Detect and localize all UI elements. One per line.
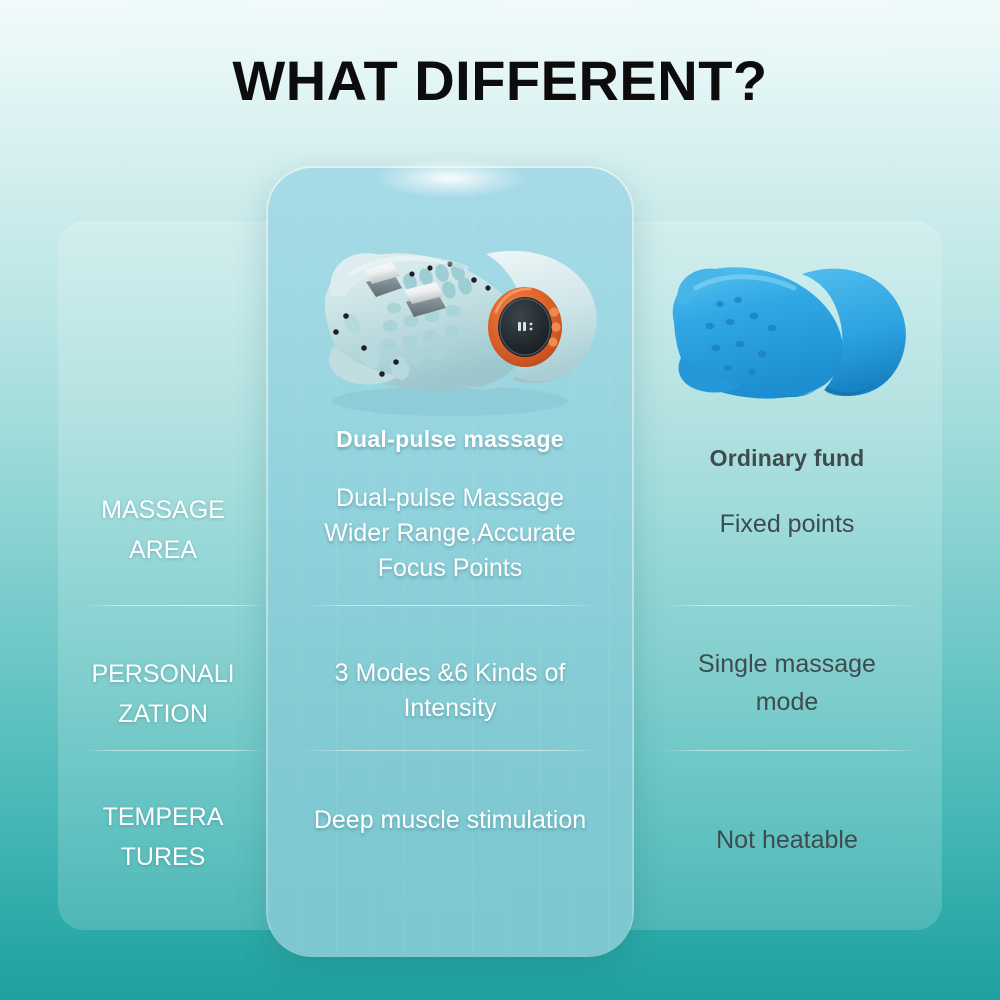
premium-value-personalization: 3 Modes &6 Kinds of Intensity bbox=[268, 656, 632, 726]
premium-value-temperatures: Deep muscle stimulation bbox=[268, 803, 632, 838]
feature-label-line: TURES bbox=[58, 837, 268, 877]
row-divider bbox=[660, 750, 920, 751]
ordinary-value-temperatures: Not heatable bbox=[632, 821, 942, 859]
premium-value-line: 3 Modes &6 Kinds of bbox=[268, 656, 632, 691]
feature-label-column: MASSAGE AREA PERSONALI ZATION TEMPERA TU… bbox=[58, 222, 268, 930]
feature-label-line: ZATION bbox=[58, 694, 268, 734]
ordinary-value-line: Single massage bbox=[632, 645, 942, 683]
row-divider bbox=[300, 750, 600, 751]
ordinary-value-line: Not heatable bbox=[632, 821, 942, 859]
feature-label-line: PERSONALI bbox=[58, 654, 268, 694]
ordinary-product-image bbox=[652, 230, 924, 430]
ordinary-value-line: Fixed points bbox=[632, 505, 942, 543]
premium-heading: Dual-pulse massage bbox=[268, 426, 632, 453]
infographic-root: WHAT DIFFERENT? MASSAGE AREA PERSONALI Z… bbox=[0, 0, 1000, 1000]
ordinary-heading: Ordinary fund bbox=[632, 445, 942, 472]
premium-value-line: Focus Points bbox=[268, 551, 632, 586]
row-divider bbox=[660, 605, 920, 606]
row-divider bbox=[85, 750, 265, 751]
premium-device-illustration bbox=[290, 196, 610, 421]
ordinary-device-illustration bbox=[652, 230, 924, 430]
row-divider bbox=[300, 605, 600, 606]
premium-value-line: Dual-pulse Massage bbox=[268, 481, 632, 516]
row-divider bbox=[85, 605, 265, 606]
feature-label-line: MASSAGE bbox=[58, 490, 268, 530]
ordinary-value-personalization: Single massage mode bbox=[632, 645, 942, 721]
feature-label-line: AREA bbox=[58, 530, 268, 570]
ordinary-column: Ordinary fund Fixed points Single massag… bbox=[632, 222, 942, 930]
feature-label-massage-area: MASSAGE AREA bbox=[58, 490, 268, 570]
page-title: WHAT DIFFERENT? bbox=[0, 48, 1000, 113]
premium-value-massage-area: Dual-pulse Massage Wider Range,Accurate … bbox=[268, 481, 632, 586]
premium-column: Dual-pulse massage Dual-pulse Massage Wi… bbox=[268, 168, 632, 955]
premium-value-line: Wider Range,Accurate bbox=[268, 516, 632, 551]
feature-label-temperatures: TEMPERA TURES bbox=[58, 797, 268, 877]
premium-product-image bbox=[290, 196, 610, 421]
premium-value-line: Deep muscle stimulation bbox=[268, 803, 632, 838]
premium-value-line: Intensity bbox=[268, 691, 632, 726]
feature-label-line: TEMPERA bbox=[58, 797, 268, 837]
ordinary-value-line: mode bbox=[632, 683, 942, 721]
ordinary-value-massage-area: Fixed points bbox=[632, 505, 942, 543]
feature-label-personalization: PERSONALI ZATION bbox=[58, 654, 268, 734]
